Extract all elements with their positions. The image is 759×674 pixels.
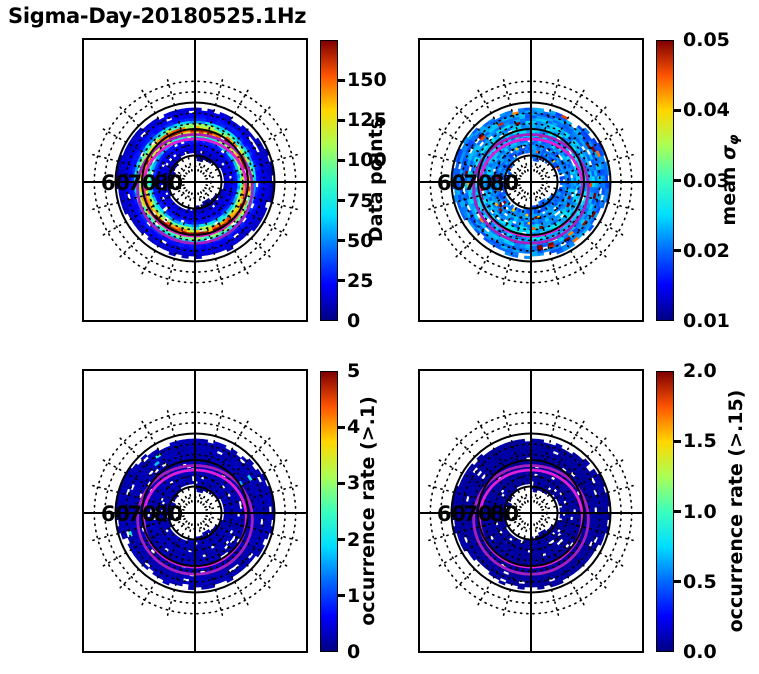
- colorbar-occurrence-rate-0p1[interactable]: [320, 371, 338, 652]
- colorbar-tick-label: 1.0: [674, 501, 717, 523]
- colorbar-mean-sigma-phi[interactable]: [656, 40, 674, 321]
- colorbar-occurrence-rate-0p15[interactable]: [656, 371, 674, 652]
- colorbar-tick-label: 0.05: [674, 29, 730, 51]
- colorbar-tick-label: 0.5: [674, 571, 717, 593]
- polar-plot-mean-sigma-phi[interactable]: 607080: [418, 38, 644, 322]
- colorbar-label-occurrence-rate-0p15: occurrence rate (>.15): [725, 390, 747, 633]
- colorbar-label-occurrence-rate-0p1: occurrence rate (>.1): [357, 396, 379, 626]
- colorbar-data-points[interactable]: [320, 40, 338, 321]
- colorbar-tick-label: 150: [338, 69, 387, 91]
- polar-grid-solid: [420, 40, 644, 322]
- colorbar-tick-label: 0.04: [674, 99, 730, 121]
- colorbar-tick-label: 2.0: [674, 360, 717, 382]
- polar-grid-solid: [84, 371, 308, 653]
- colorbar-label-data-points: Data points: [365, 118, 387, 242]
- colorbar-tick-label: 0: [338, 310, 360, 332]
- page-title: Sigma-Day-20180525.1Hz: [8, 4, 306, 28]
- polar-plot-data-points[interactable]: 607080: [82, 38, 308, 322]
- polar-plot-occurrence-rate-0p15[interactable]: 607080: [418, 369, 644, 653]
- polar-grid-solid: [420, 371, 644, 653]
- colorbar-tick-label: 5: [338, 360, 360, 382]
- polar-grid-solid: [84, 40, 308, 322]
- colorbar-tick-label: 0.01: [674, 310, 730, 332]
- colorbar-tick-label: 25: [338, 270, 373, 292]
- colorbar-tick-label: 0.0: [674, 641, 717, 663]
- colorbar-tick-label: 0.02: [674, 240, 730, 262]
- colorbar-label-mean-sigma-phi: mean σφ: [718, 134, 742, 225]
- colorbar-tick-label: 1.5: [674, 430, 717, 452]
- colorbar-tick-label: 0: [338, 641, 360, 663]
- polar-plot-occurrence-rate-0p1[interactable]: 607080: [82, 369, 308, 653]
- figure-canvas: Sigma-Day-20180525.1Hz 607080 0255075100…: [0, 0, 759, 674]
